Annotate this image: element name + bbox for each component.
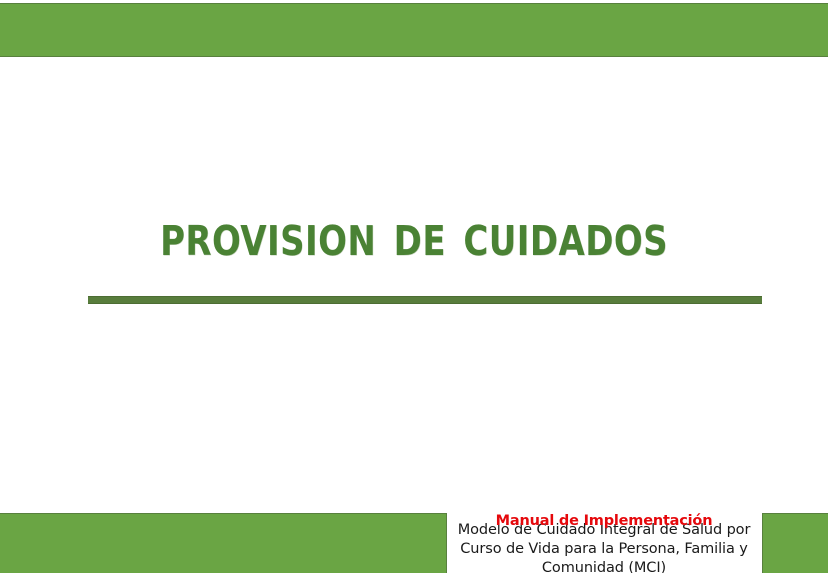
presentation-slide: Provision de Cuidados Modelo de Cuidado … [0,0,828,573]
page-title: Provision de Cuidados [160,205,668,264]
footer-subtitle-block: Modelo de Cuidado Integral de Salud por … [452,521,756,573]
title-divider-rule [88,296,762,304]
footer-subtitle-line-2: Curso de Vida para la Persona, Familia y [452,540,756,559]
bottom-left-green-banner [0,513,447,573]
title-block: Provision de Cuidados [0,205,828,264]
footer-subtitle-line-1: Modelo de Cuidado Integral de Salud por [452,521,756,540]
footer-subtitle-line-3: Comunidad (MCI) [452,559,756,573]
top-green-banner [0,3,828,57]
bottom-right-green-banner [762,513,828,573]
